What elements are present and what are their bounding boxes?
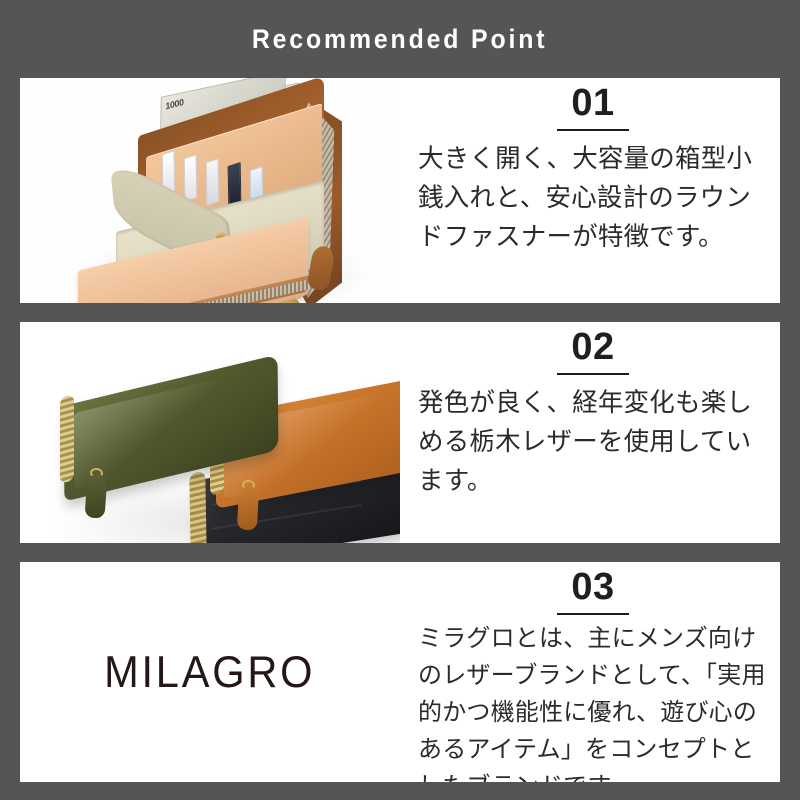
wallet-olive-zipper-pull [84, 473, 107, 518]
feature-description: 大きく開く、大容量の箱型小銭入れと、安心設計のラウンドファスナーが特徴です。 [418, 139, 768, 256]
feature-description: ミラグロとは、主にメンズ向けのレザーブランドとして、「実用的かつ機能性に優れ、遊… [418, 621, 768, 782]
feature-number: 03 [567, 568, 618, 610]
feature-number-underline [557, 373, 629, 375]
photo-stage [20, 322, 400, 543]
wallet-olive-green-zipper [60, 394, 74, 483]
feature-body-03: 03 ミラグロとは、主にメンズ向けのレザーブランドとして、「実用的かつ機能性に優… [400, 562, 780, 782]
feature-panel-03: MILAGRO 03 ミラグロとは、主にメンズ向けのレザーブランドとして、「実用… [20, 562, 780, 782]
product-photo-open-wallet: 1000 [20, 78, 400, 303]
feature-number-wrap-01: 01 [418, 78, 768, 131]
feature-number: 01 [567, 84, 618, 126]
feature-number-wrap-03: 03 [418, 562, 768, 615]
feature-body-01: 01 大きく開く、大容量の箱型小銭入れと、安心設計のラウンドファスナーが特徴です… [400, 78, 780, 303]
wallet-black-zipper [189, 471, 206, 543]
card-slot [206, 158, 220, 206]
page-title: Recommended Point [252, 24, 548, 55]
feature-description: 発色が良く、経年変化も楽しめる栃木レザーを使用しています。 [418, 383, 768, 500]
banknote-denomination-label: 1000 [165, 97, 183, 112]
feature-number-wrap-02: 02 [418, 322, 768, 375]
card-slot [184, 154, 198, 202]
feature-panel-02: 02 発色が良く、経年変化も楽しめる栃木レザーを使用しています。 [20, 322, 780, 543]
recommended-point-infographic: Recommended Point 1000 [0, 0, 800, 800]
feature-number-underline [557, 613, 629, 615]
feature-panel-01: 1000 [20, 78, 780, 303]
feature-number-underline [557, 129, 629, 131]
wallet-camel-zipper-pull [237, 486, 259, 531]
photo-stage: 1000 [20, 78, 400, 303]
brand-logo-area: MILAGRO [20, 562, 400, 782]
header-bar: Recommended Point [0, 0, 800, 78]
milagro-logo-wordmark: MILAGRO [104, 647, 315, 698]
photo-stage: MILAGRO [20, 562, 400, 782]
feature-number: 02 [567, 328, 618, 370]
feature-body-02: 02 発色が良く、経年変化も楽しめる栃木レザーを使用しています。 [400, 322, 780, 543]
product-photo-three-wallets [20, 322, 400, 543]
